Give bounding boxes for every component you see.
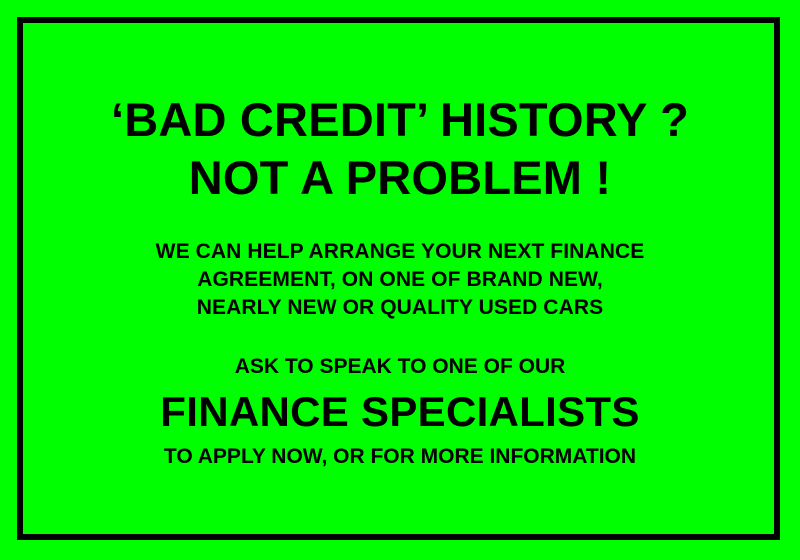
cta-apply-now: TO APPLY NOW, OR FOR MORE INFORMATION bbox=[0, 446, 800, 467]
cta-finance-specialists: FINANCE SPECIALISTS bbox=[0, 391, 800, 433]
body-text-line-3: NEARLY NEW OR QUALITY USED CARS bbox=[0, 297, 800, 318]
poster-content: ‘BAD CREDIT’ HISTORY ? NOT A PROBLEM ! W… bbox=[0, 0, 800, 560]
headline-not-a-problem: NOT A PROBLEM ! bbox=[0, 154, 800, 201]
cta-ask-to-speak: ASK TO SPEAK TO ONE OF OUR bbox=[0, 356, 800, 377]
headline-bad-credit-history: ‘BAD CREDIT’ HISTORY ? bbox=[0, 96, 800, 143]
body-text-line-1: WE CAN HELP ARRANGE YOUR NEXT FINANCE bbox=[0, 241, 800, 262]
body-text-line-2: AGREEMENT, ON ONE OF BRAND NEW, bbox=[0, 269, 800, 290]
advertisement-poster: ‘BAD CREDIT’ HISTORY ? NOT A PROBLEM ! W… bbox=[0, 0, 800, 560]
